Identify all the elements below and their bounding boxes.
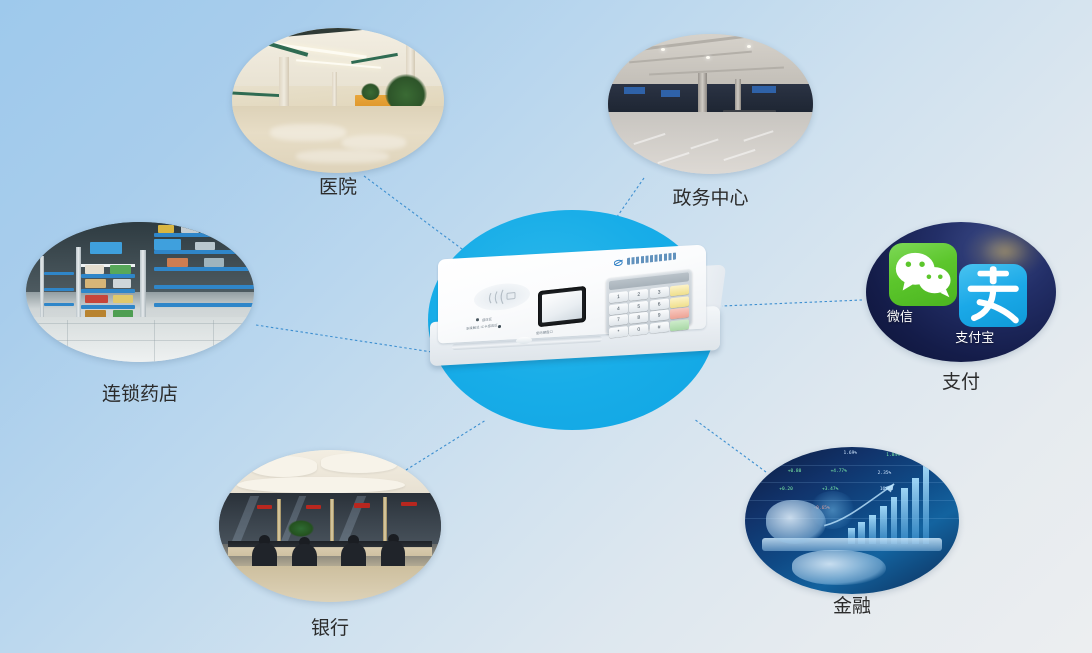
key-0[interactable]: 0 — [629, 323, 648, 335]
status-led-2 — [498, 325, 501, 328]
wechat-label: 微信 — [887, 306, 913, 325]
hospital-scene — [232, 28, 444, 173]
key-star[interactable]: * — [609, 326, 628, 338]
key-enter[interactable] — [670, 319, 689, 331]
key-4[interactable]: 4 — [609, 303, 628, 315]
micro-label-keypad: 密码键盘口 — [536, 329, 553, 336]
key-cancel[interactable] — [670, 284, 689, 296]
hospital-label: 医院 — [232, 172, 444, 199]
connector-pharmacy — [256, 325, 432, 352]
finance-photo-oval: 1.69% 1.04% +0.80 +4.77% 2.35% +0.20 +3.… — [745, 447, 959, 594]
ticker-value-1: +0.80 — [788, 469, 802, 474]
finance-scene: 1.69% 1.04% +0.80 +4.77% 2.35% +0.20 +3.… — [745, 447, 959, 594]
key-5[interactable]: 5 — [629, 300, 648, 312]
payment-terminal-device: 感应区 非接触式 IC卡感应区 密码键盘口 1 2 3 4 5 6 7 — [430, 252, 724, 374]
bank-label: 银行 — [219, 613, 441, 640]
bank-scene — [219, 450, 441, 602]
pharmacy-photo-oval — [26, 222, 254, 362]
device-keypad[interactable]: 1 2 3 4 5 6 7 8 9 * 0 # — [606, 269, 692, 335]
alipay-glyph-icon — [959, 264, 1027, 327]
bank-photo-oval — [219, 450, 441, 602]
device-top-panel: 感应区 非接触式 IC卡感应区 密码键盘口 1 2 3 4 5 6 7 — [438, 245, 706, 344]
pharmacy-scene — [26, 222, 254, 362]
status-led-1 — [476, 318, 479, 321]
government-scene — [608, 34, 813, 174]
key-clear[interactable] — [670, 296, 689, 308]
device-display-screen — [538, 286, 586, 327]
wechat-app-icon[interactable] — [889, 243, 957, 306]
key-2[interactable]: 2 — [629, 289, 648, 301]
wechat-glyph-icon — [889, 243, 957, 306]
brand-mark-icon — [614, 258, 624, 267]
key-1[interactable]: 1 — [609, 291, 628, 303]
micro-label-ic: 非接触式 IC卡感应区 — [466, 322, 498, 331]
connector-payment — [722, 300, 862, 306]
diagram-stage: 感应区 非接触式 IC卡感应区 密码键盘口 1 2 3 4 5 6 7 — [0, 0, 1092, 653]
ticker-value-2: +4.77% — [831, 469, 847, 474]
finance-label: 金融 — [745, 591, 959, 618]
ticker-value-3: +0.20 — [779, 487, 793, 492]
key-3[interactable]: 3 — [650, 287, 669, 299]
ticker-value-6: 1.69% — [843, 451, 857, 456]
key-7[interactable]: 7 — [609, 314, 628, 326]
device-brand-logo — [614, 250, 676, 268]
payment-label: 支付 — [866, 367, 1056, 394]
ticker-value-7: 1.04% — [886, 453, 900, 458]
key-9[interactable]: 9 — [650, 310, 669, 322]
key-function-red[interactable] — [670, 307, 689, 319]
display-surface — [542, 290, 582, 322]
hospital-photo-oval — [232, 28, 444, 173]
key-8[interactable]: 8 — [629, 312, 648, 324]
key-hash[interactable]: # — [650, 321, 669, 333]
payment-scene: 微信 支付宝 — [866, 222, 1056, 362]
alipay-app-icon[interactable] — [959, 264, 1027, 327]
ticker-value-8: 2.35% — [878, 471, 892, 476]
government-label: 政务中心 — [608, 183, 813, 210]
key-6[interactable]: 6 — [650, 298, 669, 310]
payment-photo-oval: 微信 支付宝 — [866, 222, 1056, 362]
government-photo-oval — [608, 34, 813, 174]
alipay-label: 支付宝 — [955, 327, 994, 346]
micro-label-nfc: 感应区 — [482, 316, 492, 322]
brand-name-text — [627, 252, 676, 264]
pharmacy-label: 连锁药店 — [26, 379, 254, 406]
keypad-keys[interactable]: 1 2 3 4 5 6 7 8 9 * 0 # — [609, 284, 689, 337]
